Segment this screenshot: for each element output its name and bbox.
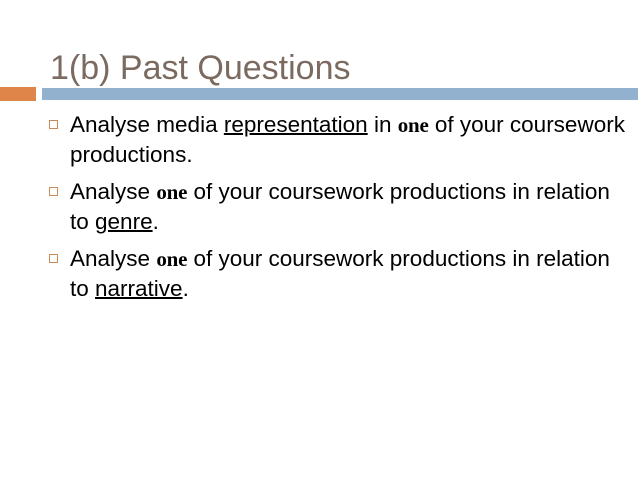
text-run: . [183, 276, 189, 301]
list-item-text: Analyse one of your coursework productio… [70, 179, 610, 234]
divider-accent-right [42, 88, 638, 100]
text-run: . [153, 209, 159, 234]
square-bullet-icon [49, 187, 58, 196]
emphasis-bold: one [398, 113, 429, 137]
emphasis-underline: genre [95, 209, 153, 234]
title-divider [0, 86, 638, 102]
slide-canvas: 1(b) Past Questions Analyse media repres… [0, 0, 638, 479]
divider-accent-left [0, 87, 36, 101]
text-run: Analyse [70, 246, 156, 271]
square-bullet-icon [49, 120, 58, 129]
text-run: in [368, 112, 398, 137]
bullet-list: Analyse media representation in one of y… [46, 110, 626, 311]
emphasis-bold: one [156, 247, 187, 271]
list-item: Analyse media representation in one of y… [46, 110, 626, 170]
emphasis-bold: one [156, 180, 187, 204]
list-item-text: Analyse one of your coursework productio… [70, 246, 610, 301]
page-title: 1(b) Past Questions [50, 47, 610, 89]
emphasis-underline: narrative [95, 276, 183, 301]
emphasis-underline: representation [224, 112, 368, 137]
square-bullet-icon [49, 254, 58, 263]
list-item: Analyse one of your coursework productio… [46, 244, 626, 304]
text-run: Analyse [70, 179, 156, 204]
list-item: Analyse one of your coursework productio… [46, 177, 626, 237]
list-item-text: Analyse media representation in one of y… [70, 112, 625, 167]
text-run: Analyse media [70, 112, 224, 137]
